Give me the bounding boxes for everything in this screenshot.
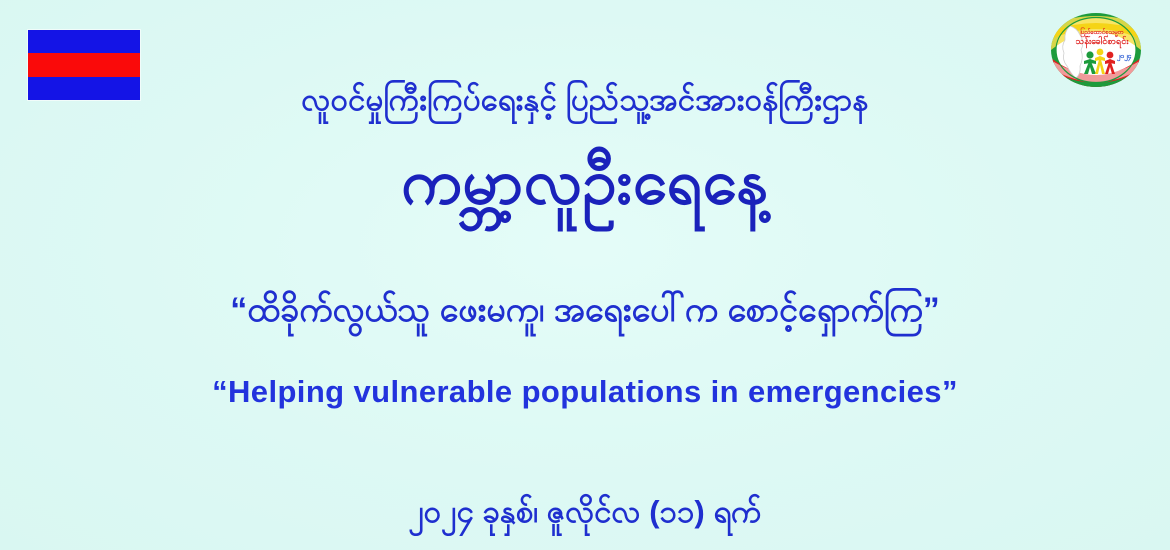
slogan-burmese: “ထိခိုက်လွယ်သူ ဖေးမကူ၊ အရေးပေါ်က စောင့်ရ… xyxy=(0,286,1170,334)
flag-stripe-top xyxy=(28,30,140,53)
ministry-name: လူဝင်မှုကြီးကြပ်ရေးနှင့် ပြည်သူ့အင်အားဝန… xyxy=(0,78,1170,122)
flag-stripe-middle xyxy=(28,53,140,76)
event-title: ကမ္ဘာ့လူဦးရေနေ့ xyxy=(0,141,1170,225)
event-date: ၂၀၂၄ ခုနှစ်၊ ဇူလိုင်လ (၁၁) ရက် xyxy=(0,490,1170,534)
poster-canvas: ပြည်ထောင်စုသမ္မတ သန်းခေါင်စာရင်း ၂၀၂၄ လူ… xyxy=(0,0,1170,550)
slogan-english: “Helping vulnerable populations in emerg… xyxy=(0,370,1170,414)
